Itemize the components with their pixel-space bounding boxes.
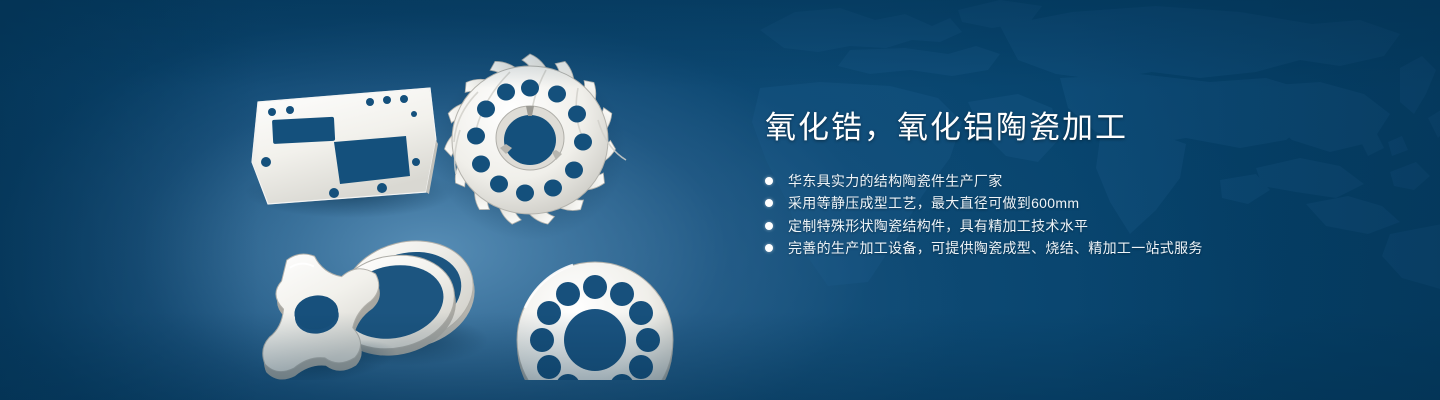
feature-list: 华东具实力的结构陶瓷件生产厂家 采用等静压成型工艺，最大直径可做到600mm 定… — [765, 170, 1365, 259]
list-item: 完善的生产加工设备，可提供陶瓷成型、烧结、精加工一站式服务 — [765, 237, 1365, 259]
bullet-dot-icon — [765, 222, 773, 230]
list-item: 华东具实力的结构陶瓷件生产厂家 — [765, 170, 1365, 192]
hero-banner: 氧化锆，氧化铝陶瓷加工 华东具实力的结构陶瓷件生产厂家 采用等静压成型工艺，最大… — [0, 0, 1440, 400]
bullet-dot-icon — [765, 244, 773, 252]
bullet-dot-icon — [765, 199, 773, 207]
list-item-label: 定制特殊形状陶瓷结构件，具有精加工技术水平 — [788, 218, 1088, 234]
ceramic-hole-ring-plate — [513, 262, 677, 380]
list-item-label: 华东具实力的结构陶瓷件生产厂家 — [788, 173, 1003, 189]
banner-copy: 氧化锆，氧化铝陶瓷加工 华东具实力的结构陶瓷件生产厂家 采用等静压成型工艺，最大… — [765, 108, 1365, 259]
ceramic-impeller-disc — [434, 53, 626, 240]
bullet-dot-icon — [765, 177, 773, 185]
list-item-label: 采用等静压成型工艺，最大直径可做到600mm — [788, 195, 1079, 211]
page-title: 氧化锆，氧化铝陶瓷加工 — [765, 108, 1365, 148]
list-item-label: 完善的生产加工设备，可提供陶瓷成型、烧结、精加工一站式服务 — [788, 240, 1203, 256]
list-item: 定制特殊形状陶瓷结构件，具有精加工技术水平 — [765, 215, 1365, 237]
ceramic-products-photo — [230, 40, 700, 380]
ceramic-plate-with-cutouts — [245, 88, 455, 218]
list-item: 采用等静压成型工艺，最大直径可做到600mm — [765, 192, 1365, 214]
